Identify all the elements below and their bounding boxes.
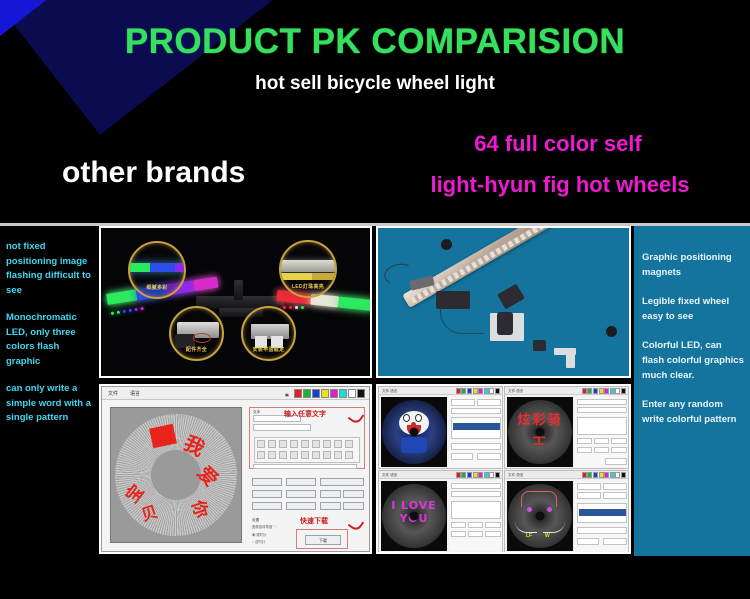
preview-field[interactable] xyxy=(253,464,357,469)
wheel-light-bar xyxy=(402,226,579,308)
header-banner: PRODUCT PK COMPARISION hot sell bicycle … xyxy=(0,0,750,224)
diagonal-dark-blue-decoration xyxy=(0,0,336,135)
callout-circle-led-closeup-left: 细腻多彩 xyxy=(128,241,186,299)
mini-screenshot-chinese-text[interactable]: 文件 语言 炫彩骑士 xyxy=(504,386,629,469)
color-palette[interactable] xyxy=(294,389,365,398)
mini-list-selection-1 xyxy=(453,423,500,430)
mini-field-1c[interactable] xyxy=(451,408,501,414)
mini-palette-3[interactable] xyxy=(456,472,500,478)
led-segment-green xyxy=(106,289,137,305)
product-photo-panel xyxy=(376,226,631,378)
mini-canvas-1[interactable] xyxy=(381,397,447,467)
mini-screenshot-cat-face[interactable]: 文件 语言 LF W xyxy=(504,470,629,554)
wheel-preview-canvas[interactable]: 宝 贝 我 爱 你 xyxy=(110,407,242,543)
mini-list-4[interactable] xyxy=(577,503,627,523)
cat-eye-left xyxy=(527,507,532,512)
mini-button-2e[interactable] xyxy=(594,447,609,453)
callout-highlight-ring xyxy=(193,333,211,343)
mini-button-2a[interactable] xyxy=(577,438,592,444)
button-read[interactable] xyxy=(252,490,282,498)
mini-button-3d[interactable] xyxy=(451,531,466,537)
mini-button-1a[interactable] xyxy=(451,443,501,450)
button-clear[interactable] xyxy=(286,502,316,510)
mini-screenshot-doraemon[interactable]: 文件 语言 xyxy=(378,386,503,469)
callout-led-zoom-chips xyxy=(279,273,337,280)
brush-icon[interactable]: ✑ xyxy=(285,393,289,399)
comparison-content: not fixed positioning image flashing dif… xyxy=(0,226,750,556)
mini-titlebar-1: 文件 语言 xyxy=(379,387,502,395)
led-glow-dots-right xyxy=(283,306,304,309)
button-delete-image[interactable] xyxy=(343,490,364,498)
menu-item-language[interactable]: 语言 xyxy=(130,390,140,397)
swatch-magenta[interactable] xyxy=(330,389,338,398)
mini-controls-3[interactable] xyxy=(449,481,503,551)
software-window: 文件 语言 ✎ ✐ ✑ xyxy=(101,386,370,552)
callout-label-3: 安装牢固稳定 xyxy=(243,346,294,353)
mini-button-1b[interactable] xyxy=(451,453,473,460)
mini-hub-1 xyxy=(410,428,419,437)
mini-menu-3[interactable]: 文件 语言 xyxy=(382,473,397,478)
mini-field-4a[interactable] xyxy=(577,483,601,490)
mini-field-2a[interactable] xyxy=(577,399,627,405)
annotation-arrow-bottom xyxy=(348,516,365,533)
mini-button-2c[interactable] xyxy=(611,438,627,444)
mini-button-3e[interactable] xyxy=(468,531,483,537)
mini-menu-4[interactable]: 文件 语言 xyxy=(508,473,523,478)
button-add-image[interactable] xyxy=(320,490,341,498)
mini-field-4b[interactable] xyxy=(603,483,627,490)
radio-option-2[interactable]: ○ 逆时针 xyxy=(252,539,265,544)
mini-controls-1[interactable] xyxy=(449,397,503,467)
button-preview[interactable] xyxy=(286,490,316,498)
page-subtitle: hot sell bicycle wheel light xyxy=(0,73,750,95)
editor-software-panel[interactable]: 文件 语言 ✎ ✐ ✑ xyxy=(99,384,372,554)
mini-field-4c[interactable] xyxy=(577,492,601,499)
doraemon-body xyxy=(401,437,427,453)
mini-kbd-3[interactable] xyxy=(451,501,501,519)
callout-circle-accessories: 配件齐全 xyxy=(169,306,224,361)
mini-button-1c[interactable] xyxy=(477,453,501,460)
mini-controls-4[interactable] xyxy=(575,481,629,551)
annotation-enter-any-text: 输入任意文字 xyxy=(284,409,326,419)
callout-circle-mounting: 安装牢固稳定 xyxy=(241,306,296,361)
other-brands-label: other brands xyxy=(62,156,245,190)
mini-palette-2[interactable] xyxy=(582,388,626,394)
our-product-point-4: Enter any random write colorful pattern xyxy=(642,397,744,427)
swatch-cyan[interactable] xyxy=(339,389,347,398)
led-glow-dots-left xyxy=(111,307,144,315)
mini-hub-4 xyxy=(536,512,545,521)
our-product-label-line1: 64 full color self xyxy=(398,131,718,157)
mini-button-4a[interactable] xyxy=(577,527,627,534)
mini-field-3b[interactable] xyxy=(451,491,501,497)
swatch-white[interactable] xyxy=(348,389,356,398)
mount-bracket-post xyxy=(234,280,243,300)
mini-controls-2[interactable] xyxy=(575,397,629,467)
button-save[interactable] xyxy=(252,502,282,510)
mini-menu-2[interactable]: 文件 语言 xyxy=(508,389,523,394)
other-brands-point-2: Monochromatic LED, only three colors fla… xyxy=(6,311,91,369)
button-download[interactable] xyxy=(286,478,316,486)
mini-palette-1[interactable] xyxy=(456,388,500,394)
button-delete-single[interactable] xyxy=(343,502,364,510)
page-title: PRODUCT PK COMPARISION xyxy=(0,22,750,62)
swatch-blue[interactable] xyxy=(312,389,320,398)
mini-list-1[interactable] xyxy=(451,417,501,439)
mini-button-2f[interactable] xyxy=(611,447,627,453)
bracket-clip-2 xyxy=(566,352,575,368)
mini-button-3b[interactable] xyxy=(468,522,483,528)
mini-button-2g[interactable] xyxy=(605,458,627,465)
thin-wire xyxy=(440,308,484,334)
swatch-black[interactable] xyxy=(357,389,365,398)
mini-hub-3 xyxy=(410,512,419,521)
cat-label-right: W xyxy=(545,533,550,539)
product-photo-scene xyxy=(378,228,629,376)
mini-list-selection-4 xyxy=(579,509,626,516)
swatch-red[interactable] xyxy=(294,389,302,398)
mini-button-3a[interactable] xyxy=(451,522,466,528)
bottom-black-band xyxy=(0,556,750,599)
menu-item-file[interactable]: 文件 xyxy=(108,390,118,397)
bar-end-cap-bottom xyxy=(606,326,617,337)
software-controls-panel[interactable]: 文本 输入任意文字 xyxy=(250,405,368,553)
glyph-keyboard[interactable] xyxy=(254,437,360,463)
our-product-point-1: Graphic positioning magnets xyxy=(642,250,744,280)
mini-button-3c[interactable] xyxy=(485,522,501,528)
callout-label-1: 细腻多彩 xyxy=(130,284,184,291)
our-product-label-line2: light-hyun fig hot wheels xyxy=(390,172,730,198)
swatch-yellow[interactable] xyxy=(321,389,329,398)
mini-button-2d[interactable] xyxy=(577,447,592,453)
annotation-quick-download: 快速下载 xyxy=(300,516,328,526)
mini-palette-4[interactable] xyxy=(582,472,626,478)
callout-led-zoom-housing xyxy=(279,260,337,272)
button-order[interactable] xyxy=(320,502,341,510)
download-button-highlight: 下载 xyxy=(296,529,348,549)
mini-hub-2 xyxy=(536,428,545,437)
led-segment-magenta xyxy=(193,277,218,292)
mini-button-4c[interactable] xyxy=(603,538,627,545)
cat-label-left: LF xyxy=(526,533,532,539)
small-magnet xyxy=(533,340,546,351)
mini-screenshot-i-love-you[interactable]: 文件 语言 I LOVE YOU xyxy=(378,470,503,554)
mini-field-4d[interactable] xyxy=(603,492,627,499)
other-brands-point-1: not fixed positioning image flashing dif… xyxy=(6,240,91,298)
mini-kbd-2[interactable] xyxy=(577,417,627,435)
swatch-green[interactable] xyxy=(303,389,311,398)
led-segment-green-right xyxy=(338,297,372,311)
mini-field-2b[interactable] xyxy=(577,407,627,413)
our-product-point-2: Legible fixed wheel easy to see xyxy=(642,294,744,324)
settings-group-label: 设置 xyxy=(252,518,259,523)
mini-field-1a[interactable] xyxy=(451,399,475,406)
radio-option-1[interactable]: ◉ 顺时针 xyxy=(252,532,267,537)
bar-end-cap-top xyxy=(441,239,452,250)
mini-titlebar-3: 文件 语言 xyxy=(379,471,502,479)
mini-field-3a[interactable] xyxy=(451,483,501,489)
settings-hint-text: 图像旋转角度 ° ： xyxy=(252,524,279,529)
mini-field-1b[interactable] xyxy=(477,399,501,406)
other-brands-description-column: not fixed positioning image flashing dif… xyxy=(0,226,96,556)
cat-eye-right xyxy=(547,507,552,512)
pattern-examples-grid-panel: 文件 语言 xyxy=(376,384,631,554)
callout-label-2: 配件齐全 xyxy=(171,346,222,353)
cat-ears-outline xyxy=(521,491,557,507)
button-upload[interactable] xyxy=(252,478,282,486)
mini-canvas-3[interactable]: I LOVE YOU xyxy=(381,481,447,551)
mini-titlebar-4: 文件 语言 xyxy=(505,471,628,479)
mini-canvas-2[interactable]: 炫彩骑士 xyxy=(507,397,573,467)
controller-module xyxy=(436,291,470,309)
led-strip-photo-panel: 细腻多彩 LED灯珠高亮 配件齐全 安装牢固稳定 xyxy=(99,226,372,378)
doraemon-nose xyxy=(411,422,416,427)
font-select-field[interactable] xyxy=(253,424,311,431)
mini-titlebar-2: 文件 语言 xyxy=(505,387,628,395)
doraemon-eye-left xyxy=(403,414,410,422)
callout-led-zoom-strip xyxy=(128,263,186,272)
button-more-features[interactable] xyxy=(320,478,364,486)
mini-canvas-4[interactable]: LF W xyxy=(507,481,573,551)
bar-center-battery-housing xyxy=(497,284,525,310)
mini-button-4b[interactable] xyxy=(577,538,599,545)
our-product-description-column: Graphic positioning magnets Legible fixe… xyxy=(634,226,750,556)
software-menubar[interactable]: 文件 语言 ✎ ✐ ✑ xyxy=(102,387,369,400)
mini-menu-1[interactable]: 文件 语言 xyxy=(382,389,397,394)
callout-circle-led-closeup-right: LED灯珠高亮 xyxy=(279,240,337,298)
led-photo-scene: 细腻多彩 LED灯珠高亮 配件齐全 安装牢固稳定 xyxy=(101,228,370,376)
our-product-point-3: Colorful LED, can flash colorful graphic… xyxy=(642,338,744,383)
callout-label-4: LED灯珠高亮 xyxy=(281,283,335,290)
infographic-page: PRODUCT PK COMPARISION hot sell bicycle … xyxy=(0,0,750,599)
doraemon-eye-right xyxy=(415,414,422,422)
mini-button-3f[interactable] xyxy=(485,531,501,537)
quick-download-button[interactable]: 下载 xyxy=(305,535,341,545)
mini-button-2b[interactable] xyxy=(594,438,609,444)
magnet-roller xyxy=(497,312,513,335)
other-brands-point-3: can only write a simple word with a sing… xyxy=(6,382,91,426)
